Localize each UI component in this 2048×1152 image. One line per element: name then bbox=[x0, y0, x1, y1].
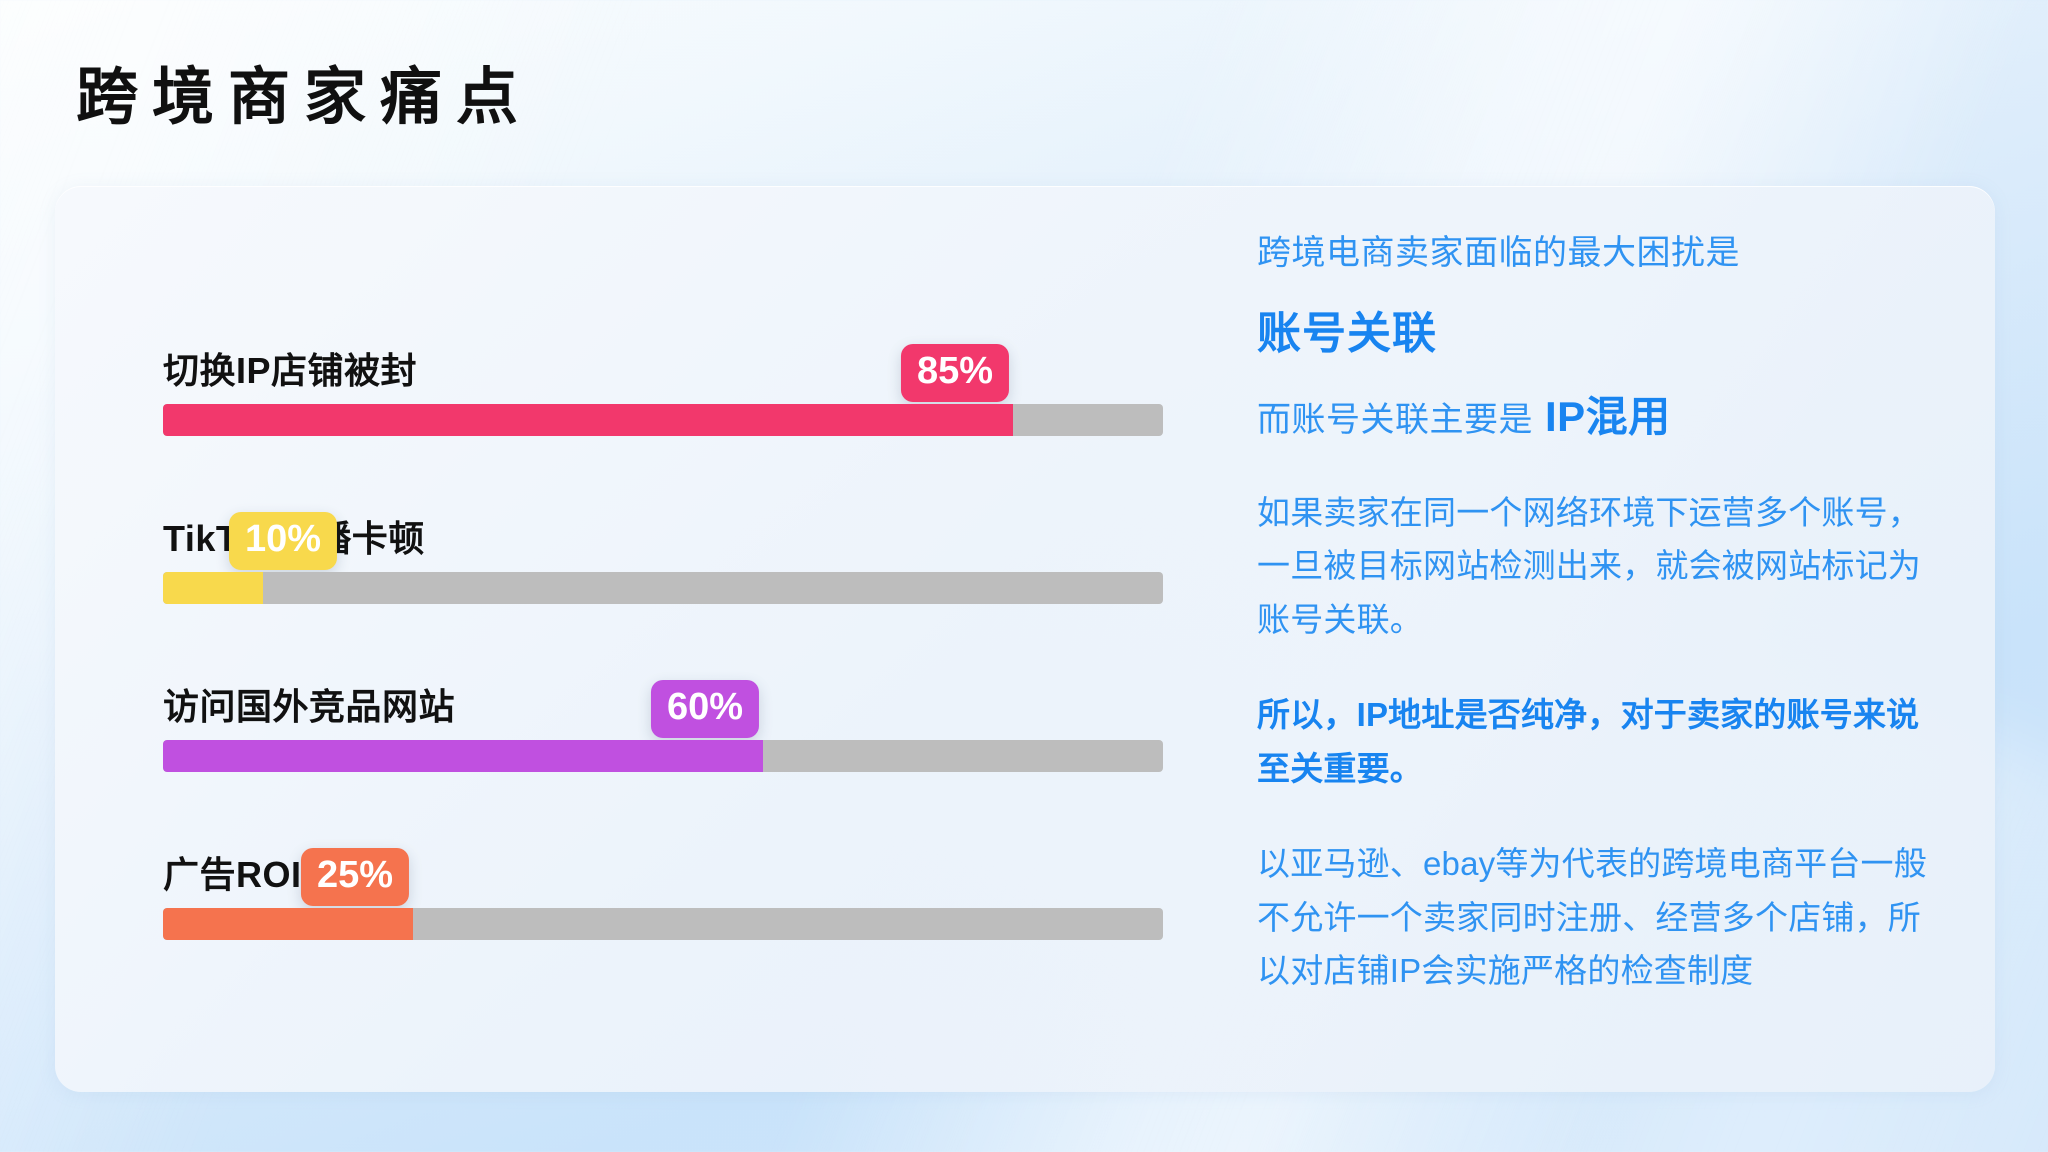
paragraph-1: 如果卖家在同一个网络环境下运营多个账号，一旦被目标网站检测出来，就会被网站标记为… bbox=[1257, 486, 1935, 646]
bar-track-0 bbox=[163, 404, 1163, 436]
page-title: 跨境商家痛点 bbox=[76, 62, 532, 133]
bar-track-2 bbox=[163, 740, 1163, 772]
bar-row-1: TikTok直播卡顿 10% bbox=[163, 488, 1163, 604]
bar-head-3: 广告ROI降低 25% bbox=[163, 824, 1163, 908]
bar-head-2: 访问国外竞品网站 60% bbox=[163, 656, 1163, 740]
paragraph-3: 以亚马逊、ebay等为代表的跨境电商平台一般不允许一个卖家同时注册、经营多个店铺… bbox=[1257, 837, 1935, 997]
lead-mixed-accent: IP混用 bbox=[1545, 393, 1671, 440]
bar-fill-1 bbox=[163, 572, 263, 604]
bar-fill-3 bbox=[163, 908, 413, 940]
lead-mixed-prefix: 而账号关联主要是 bbox=[1257, 401, 1533, 439]
description-panel: 跨境电商卖家面临的最大困扰是 账号关联 而账号关联主要是IP混用 如果卖家在同一… bbox=[1195, 186, 1995, 1092]
bar-chart: 切换IP店铺被封 85% TikTok直播卡顿 10% 访问国外竞品网站 60% bbox=[55, 186, 1195, 1092]
bar-value-badge-0: 85% bbox=[901, 344, 1009, 402]
bar-head-0: 切换IP店铺被封 85% bbox=[163, 320, 1163, 404]
bar-track-3 bbox=[163, 908, 1163, 940]
bar-value-badge-2: 60% bbox=[651, 680, 759, 738]
bar-row-2: 访问国外竞品网站 60% bbox=[163, 656, 1163, 772]
bar-label-2: 访问国外竞品网站 bbox=[163, 678, 455, 730]
bar-label-0: 切换IP店铺被封 bbox=[163, 342, 417, 394]
bar-head-1: TikTok直播卡顿 10% bbox=[163, 488, 1163, 572]
bar-value-badge-1: 10% bbox=[229, 512, 337, 570]
bar-row-3: 广告ROI降低 25% bbox=[163, 824, 1163, 940]
bar-value-badge-3: 25% bbox=[301, 848, 409, 906]
bar-fill-0 bbox=[163, 404, 1013, 436]
content-card: 切换IP店铺被封 85% TikTok直播卡顿 10% 访问国外竞品网站 60% bbox=[55, 186, 1995, 1092]
lead-mixed-line: 而账号关联主要是IP混用 bbox=[1257, 383, 1935, 444]
bar-fill-2 bbox=[163, 740, 763, 772]
lead-line: 跨境电商卖家面临的最大困扰是 bbox=[1257, 228, 1935, 279]
lead-headline: 账号关联 bbox=[1257, 297, 1935, 361]
paragraph-2: 所以，IP地址是否纯净，对于卖家的账号来说至关重要。 bbox=[1257, 688, 1935, 795]
bar-track-1 bbox=[163, 572, 1163, 604]
bar-row-0: 切换IP店铺被封 85% bbox=[163, 320, 1163, 436]
